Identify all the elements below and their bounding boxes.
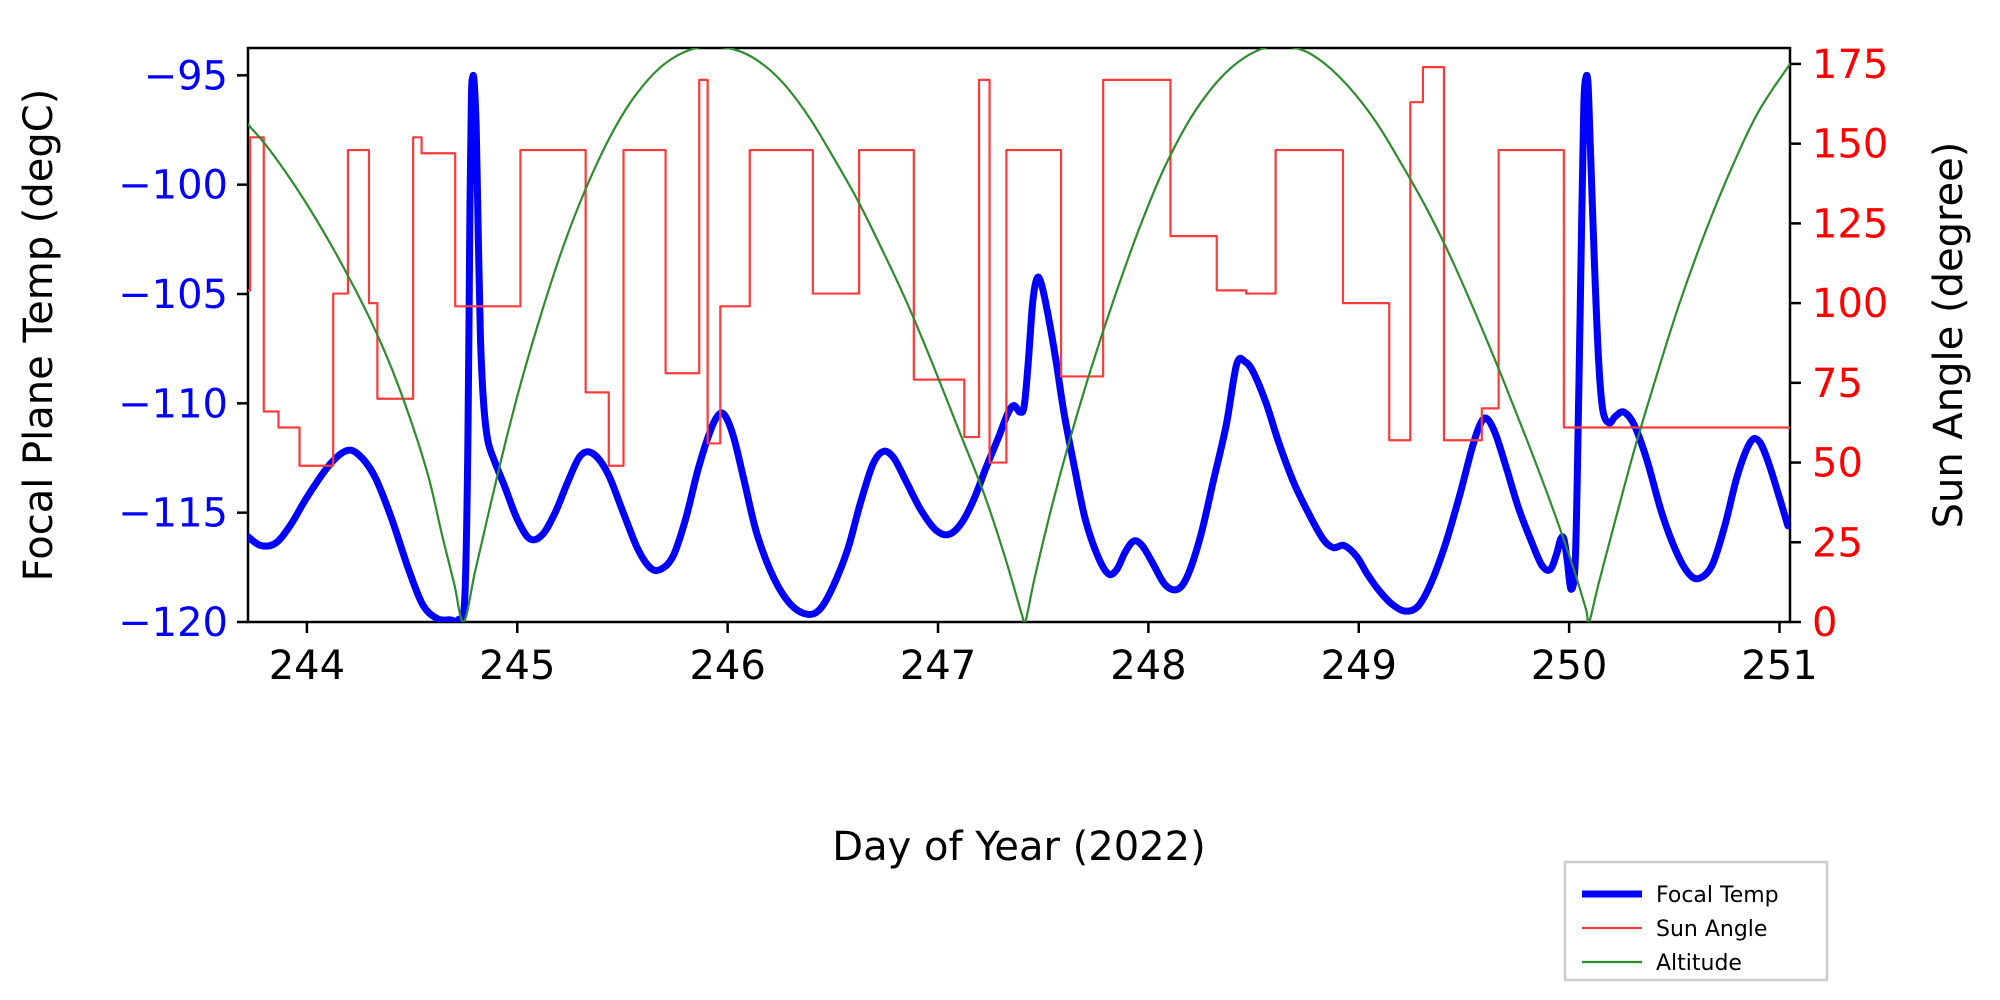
y-right-tick-label: 100 bbox=[1812, 281, 1888, 327]
y-right-tick-label: 125 bbox=[1812, 201, 1888, 247]
y-right-tick-label: 50 bbox=[1812, 441, 1863, 487]
y-left-tick-label: −100 bbox=[118, 163, 228, 209]
y-right-tick-label: 75 bbox=[1812, 361, 1863, 407]
x-tick-label: 251 bbox=[1741, 643, 1817, 689]
x-tick-label: 245 bbox=[479, 643, 555, 689]
x-tick-label: 246 bbox=[689, 643, 765, 689]
x-axis-title: Day of Year (2022) bbox=[832, 824, 1205, 870]
legend-label-focal-temp: Focal Temp bbox=[1656, 883, 1779, 908]
y-axis-right-title: Sun Angle (degree) bbox=[1926, 142, 1972, 529]
x-tick-label: 244 bbox=[269, 643, 345, 689]
y-left-tick-label: −115 bbox=[118, 491, 228, 537]
x-tick-label: 249 bbox=[1321, 643, 1397, 689]
y-right-tick-label: 175 bbox=[1812, 42, 1888, 88]
x-tick-label: 248 bbox=[1110, 643, 1186, 689]
y-left-tick-label: −105 bbox=[118, 272, 228, 318]
x-tick-label: 247 bbox=[900, 643, 976, 689]
y-right-tick-label: 0 bbox=[1812, 600, 1837, 646]
y-left-tick-label: −95 bbox=[144, 53, 228, 99]
chart-figure: 244245246247248249250251 −95−100−105−110… bbox=[0, 0, 2000, 1000]
legend-label-sun-angle: Sun Angle bbox=[1656, 917, 1767, 942]
legend[interactable]: Focal TempSun AngleAltitude bbox=[1565, 862, 1827, 980]
y-right-tick-label: 25 bbox=[1812, 520, 1863, 566]
y-axis-left-title: Focal Plane Temp (degC) bbox=[16, 89, 62, 582]
y-left-tick-label: −120 bbox=[118, 600, 228, 646]
x-tick-label: 250 bbox=[1531, 643, 1607, 689]
y-right-tick-label: 150 bbox=[1812, 122, 1888, 168]
chart-canvas: 244245246247248249250251 −95−100−105−110… bbox=[0, 0, 2000, 1000]
y-left-tick-label: −110 bbox=[118, 381, 228, 427]
legend-label-altitude: Altitude bbox=[1656, 951, 1742, 976]
